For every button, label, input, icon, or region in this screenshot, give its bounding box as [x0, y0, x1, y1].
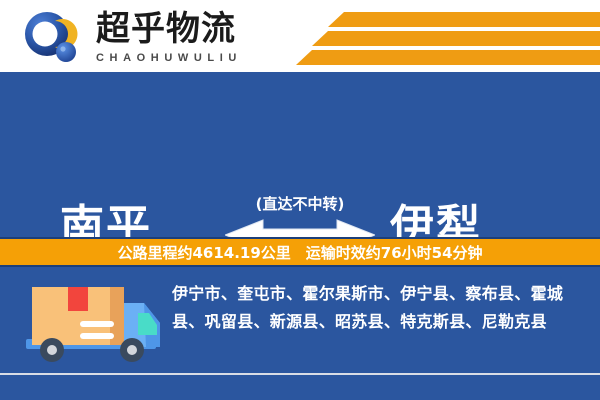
brand-block: 超乎物流 CHAOHUWULIU: [96, 8, 276, 65]
brand-name-en: CHAOHUWULIU: [96, 51, 276, 65]
metrics-bar: 公路里程约4614.19公里 运输时效约76小时54分钟: [0, 237, 600, 267]
delivery-truck-icon: [18, 277, 170, 369]
direct-service-note: (直达不中转): [0, 193, 600, 214]
footer-divider: [0, 373, 600, 375]
logistics-route-poster: 超乎物流 CHAOHUWULIU 南平 (直达不中转) 【往返运输】 伊犁 公路…: [0, 0, 600, 400]
route-panel: 南平 (直达不中转) 【往返运输】 伊犁: [0, 72, 600, 237]
metrics-text: 公路里程约4614.19公里 运输时效约76小时54分钟: [117, 242, 482, 263]
circle-crescent-logo-icon: [22, 10, 80, 66]
coverage-panel: 伊宁市、奎屯市、霍尔果斯市、伊宁县、察布县、霍城县、巩留县、新源县、昭苏县、特克…: [0, 267, 600, 400]
coverage-areas-text: 伊宁市、奎屯市、霍尔果斯市、伊宁县、察布县、霍城县、巩留县、新源县、昭苏县、特克…: [172, 280, 587, 336]
brand-name-cn: 超乎物流: [96, 8, 276, 50]
header-bar: 超乎物流 CHAOHUWULIU: [0, 0, 600, 72]
orange-stripes-icon: [280, 0, 600, 72]
